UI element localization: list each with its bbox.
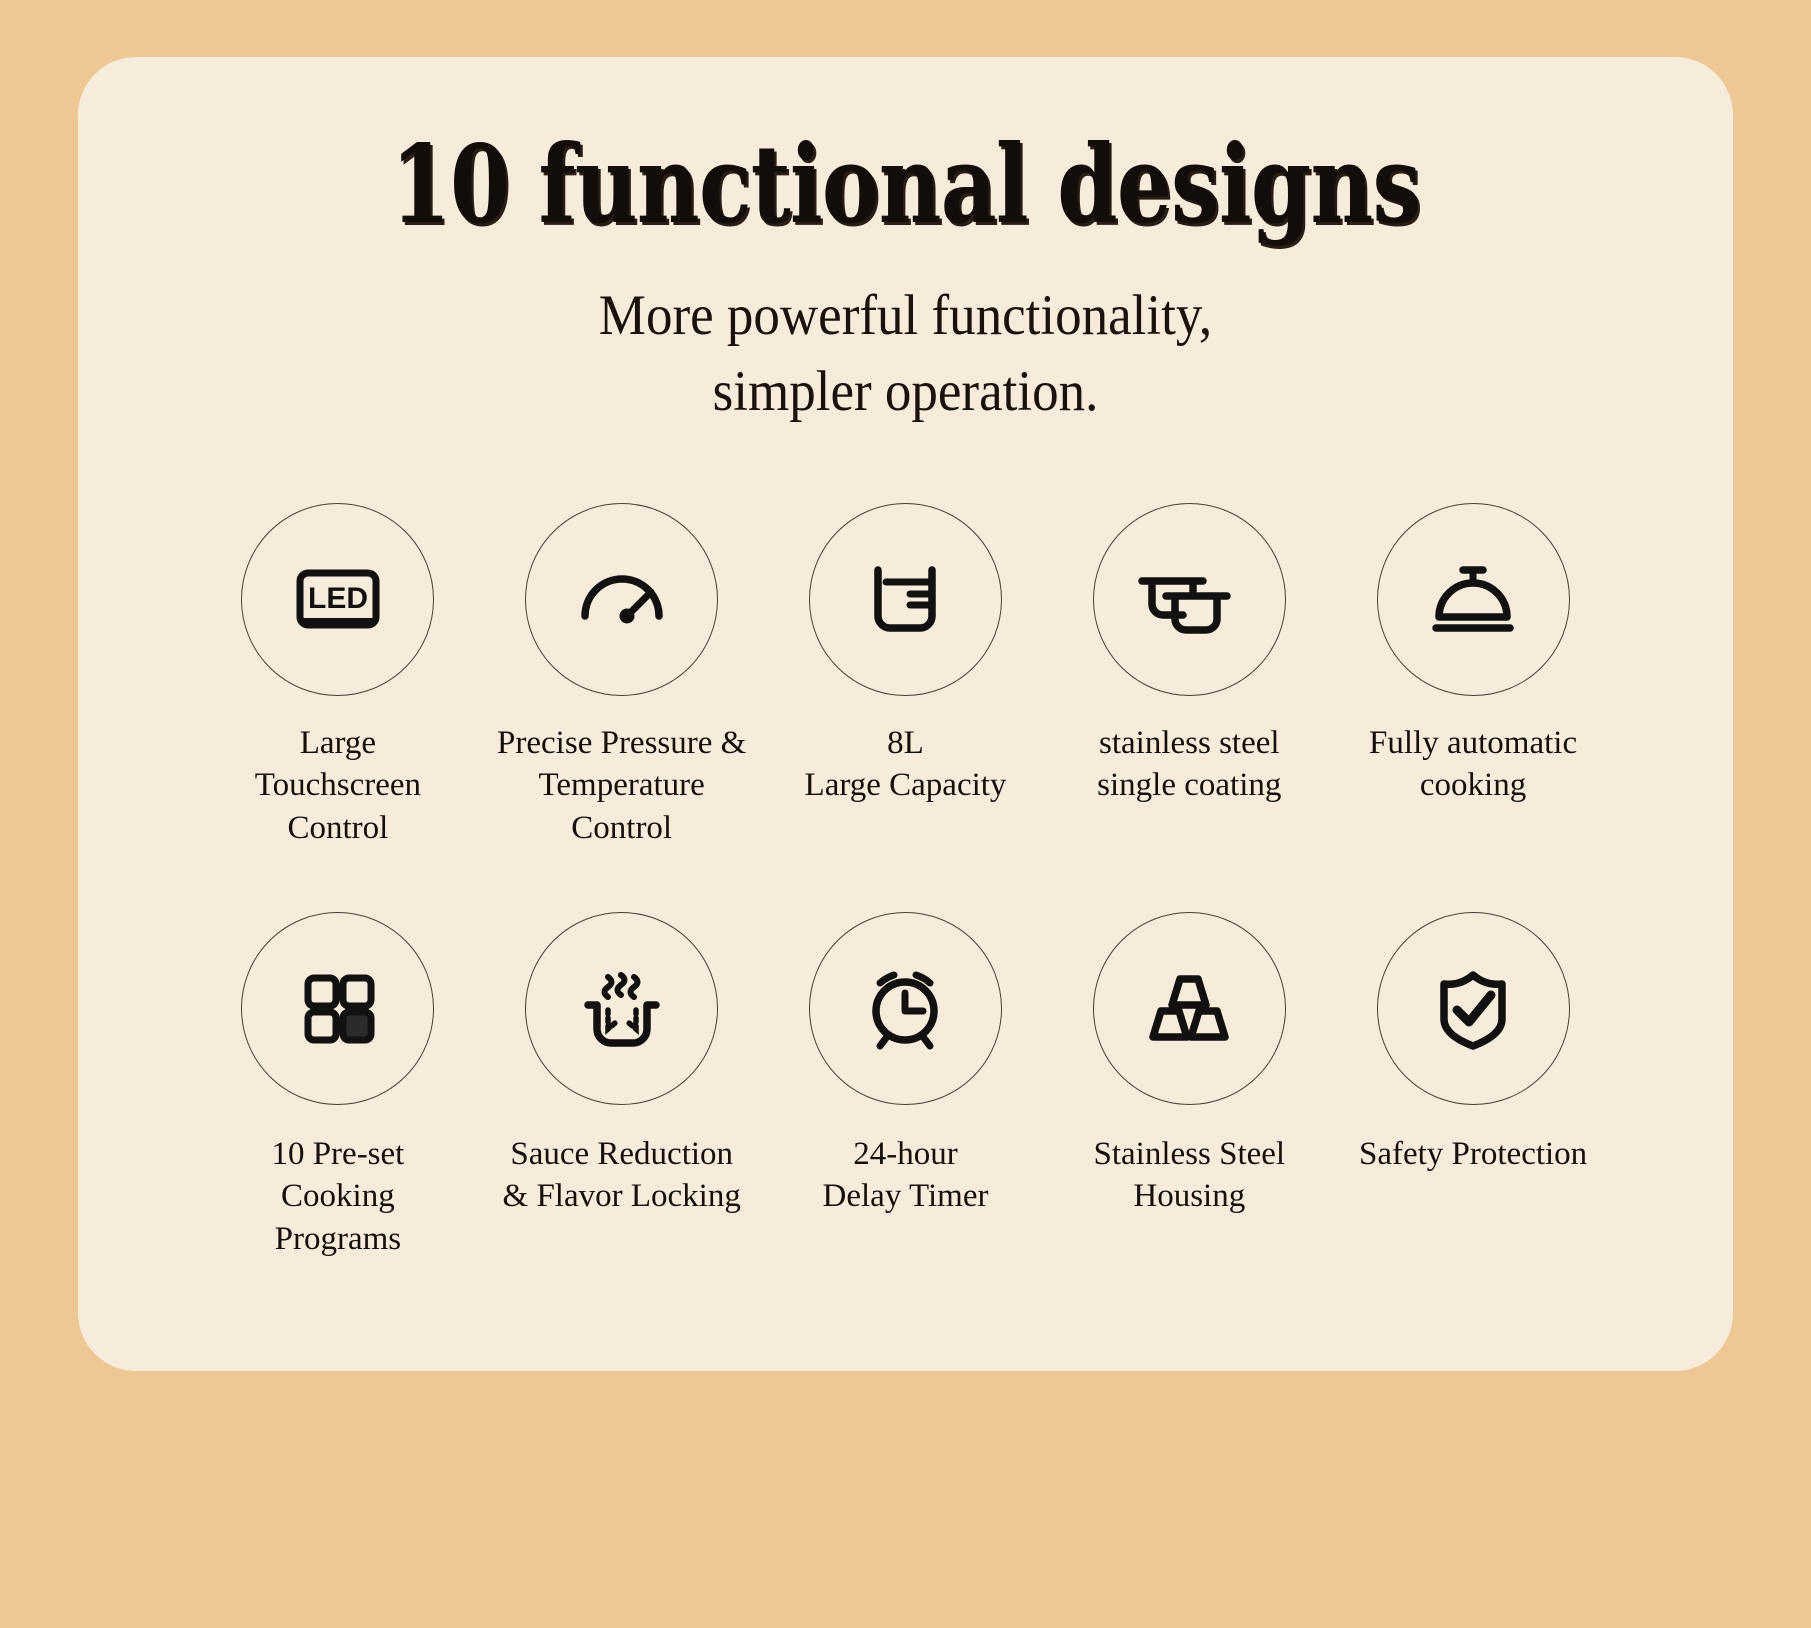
feature-item-fully-automatic-cooking[interactable]: Fully automatic cooking [1331, 503, 1615, 850]
feature-caption: Fully automatic cooking [1369, 722, 1577, 807]
icon-circle [1093, 912, 1286, 1105]
subtitle-line-2: simpler operation. [136, 354, 1675, 429]
feature-caption: Stainless Steel Housing [1094, 1133, 1286, 1218]
svg-text:LED: LED [308, 582, 368, 615]
measuring-cup-icon [850, 544, 960, 654]
feature-caption: 8L Large Capacity [805, 722, 1007, 807]
feature-grid-row-1: LED Large Touchscreen Control Precise Pr… [78, 503, 1733, 850]
steaming-pot-icon [567, 953, 677, 1063]
feature-caption: Large Touchscreen Control [255, 722, 421, 850]
pressure-gauge-icon [567, 544, 677, 654]
icon-circle [1377, 912, 1570, 1105]
cloche-dome-icon [1418, 544, 1528, 654]
feature-item-stainless-steel-single-coating[interactable]: stainless steel single coating [1047, 503, 1331, 850]
feature-grid-row-2: 10 Pre-set Cooking Programs Sauce Reduct… [78, 912, 1733, 1261]
icon-circle [525, 912, 718, 1105]
icon-circle [1093, 503, 1286, 696]
feature-caption: 24-hour Delay Timer [823, 1133, 989, 1218]
stacked-pots-icon [1130, 544, 1248, 654]
grid-squares-icon [283, 953, 393, 1063]
subtitle-line-1: More powerful functionality, [136, 278, 1675, 353]
page-subtitle: More powerful functionality, simpler ope… [136, 278, 1675, 428]
icon-circle [241, 912, 434, 1105]
feature-card: 10 functional designs More powerful func… [78, 57, 1733, 1371]
feature-item-sauce-reduction-flavor-locking[interactable]: Sauce Reduction & Flavor Locking [480, 912, 764, 1261]
feature-item-preset-cooking-programs[interactable]: 10 Pre-set Cooking Programs [196, 912, 480, 1261]
feature-caption: stainless steel single coating [1097, 722, 1281, 807]
feature-caption: 10 Pre-set Cooking Programs [271, 1133, 404, 1261]
feature-caption: Sauce Reduction & Flavor Locking [503, 1133, 741, 1218]
feature-item-precise-pressure-temperature-control[interactable]: Precise Pressure & Temperature Control [480, 503, 764, 850]
shield-check-icon [1418, 953, 1528, 1063]
icon-circle [809, 503, 1002, 696]
feature-item-stainless-steel-housing[interactable]: Stainless Steel Housing [1047, 912, 1331, 1261]
feature-item-delay-timer[interactable]: 24-hour Delay Timer [764, 912, 1048, 1261]
icon-circle [525, 503, 718, 696]
feature-item-large-capacity[interactable]: 8L Large Capacity [764, 503, 1048, 850]
feature-item-large-touchscreen-control[interactable]: LED Large Touchscreen Control [196, 503, 480, 850]
page-title: 10 functional designs [244, 129, 1568, 242]
feature-item-safety-protection[interactable]: Safety Protection [1331, 912, 1615, 1261]
icon-circle [809, 912, 1002, 1105]
icon-circle [1377, 503, 1570, 696]
feature-caption: Safety Protection [1359, 1133, 1587, 1176]
led-display-icon: LED [283, 544, 393, 654]
alarm-clock-icon [850, 953, 960, 1063]
icon-circle: LED [241, 503, 434, 696]
metal-ingots-icon [1134, 953, 1244, 1063]
feature-caption: Precise Pressure & Temperature Control [497, 722, 746, 850]
